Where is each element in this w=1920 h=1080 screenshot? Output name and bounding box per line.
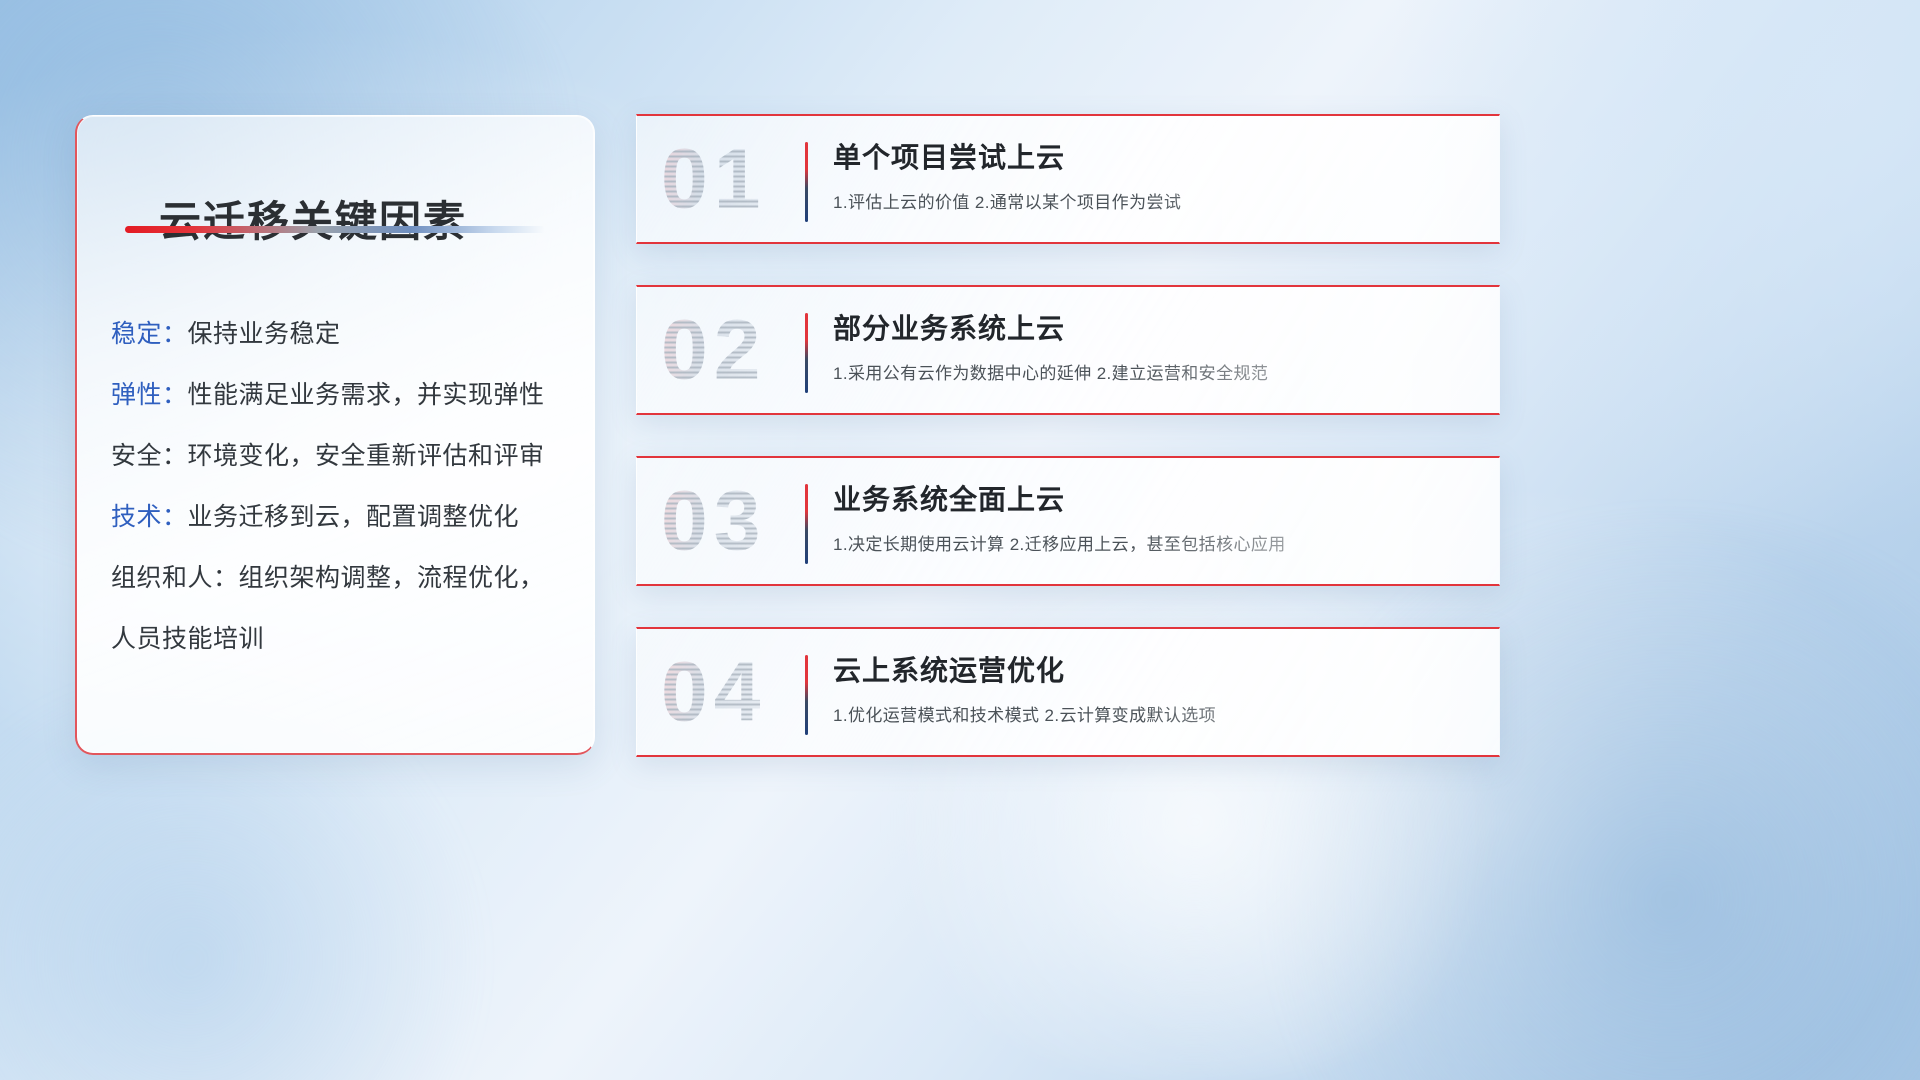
key-factor-item: 稳定：保持业务稳定	[111, 304, 581, 365]
key-factor-value: 组织架构调整，流程优化，	[239, 564, 545, 592]
card-description: 1.决定长期使用云计算 2.迁移应用上云，甚至包括核心应用	[833, 530, 1475, 555]
slide-canvas: 云迁移关键因素 稳定：保持业务稳定弹性：性能满足业务需求，并实现弹性安全：环境变…	[0, 0, 1920, 1080]
stage-card[interactable]: 02部分业务系统上云1.采用公有云作为数据中心的延伸 2.建立运营和安全规范	[636, 285, 1500, 415]
stage-card[interactable]: 04云上系统运营优化1.优化运营模式和技术模式 2.云计算变成默认选项	[636, 627, 1500, 757]
key-factor-value: 环境变化，安全重新评估和评审	[188, 442, 545, 470]
card-body: 业务系统全面上云1.决定长期使用云计算 2.迁移应用上云，甚至包括核心应用	[833, 478, 1475, 555]
key-factor-label: 弹性：	[111, 381, 188, 409]
stage-number: 02	[661, 302, 766, 399]
key-factor-item: 弹性：性能满足业务需求，并实现弹性	[111, 365, 581, 426]
panel-title: 云迁移关键因素	[159, 188, 467, 249]
key-factors-panel: 云迁移关键因素 稳定：保持业务稳定弹性：性能满足业务需求，并实现弹性安全：环境变…	[75, 115, 595, 755]
card-title: 部分业务系统上云	[833, 307, 1475, 347]
card-divider-accent	[805, 142, 808, 222]
card-divider-accent	[805, 313, 808, 393]
stage-number: 04	[661, 644, 766, 741]
key-factor-item: 安全：环境变化，安全重新评估和评审	[111, 426, 581, 487]
key-factor-item: 组织和人：组织架构调整，流程优化，	[111, 548, 581, 609]
stage-number: 01	[661, 131, 766, 228]
stage-card[interactable]: 01单个项目尝试上云1.评估上云的价值 2.通常以某个项目作为尝试	[636, 114, 1500, 244]
card-description: 1.采用公有云作为数据中心的延伸 2.建立运营和安全规范	[833, 359, 1475, 384]
key-factor-item: 人员技能培训	[111, 609, 581, 670]
card-divider-accent	[805, 655, 808, 735]
title-underline-accent	[125, 226, 545, 233]
key-factor-label: 稳定：	[111, 320, 188, 348]
card-title: 业务系统全面上云	[833, 478, 1475, 518]
key-factor-label: 组织和人：	[111, 564, 239, 592]
card-title: 单个项目尝试上云	[833, 136, 1475, 176]
stage-card[interactable]: 03业务系统全面上云1.决定长期使用云计算 2.迁移应用上云，甚至包括核心应用	[636, 456, 1500, 586]
stage-card-list: 01单个项目尝试上云1.评估上云的价值 2.通常以某个项目作为尝试02部分业务系…	[636, 114, 1500, 798]
key-factor-label: 安全：	[111, 442, 188, 470]
card-body: 部分业务系统上云1.采用公有云作为数据中心的延伸 2.建立运营和安全规范	[833, 307, 1475, 384]
card-description: 1.优化运营模式和技术模式 2.云计算变成默认选项	[833, 701, 1475, 726]
key-factor-value: 人员技能培训	[111, 625, 264, 653]
key-factor-value: 性能满足业务需求，并实现弹性	[188, 381, 545, 409]
key-factor-item: 技术：业务迁移到云，配置调整优化	[111, 487, 581, 548]
stage-number: 03	[661, 473, 766, 570]
card-divider-accent	[805, 484, 808, 564]
key-factors-list: 稳定：保持业务稳定弹性：性能满足业务需求，并实现弹性安全：环境变化，安全重新评估…	[111, 304, 581, 670]
key-factor-value: 保持业务稳定	[188, 320, 341, 348]
card-body: 单个项目尝试上云1.评估上云的价值 2.通常以某个项目作为尝试	[833, 136, 1475, 213]
key-factor-label: 技术：	[111, 503, 188, 531]
card-description: 1.评估上云的价值 2.通常以某个项目作为尝试	[833, 188, 1475, 213]
key-factor-value: 业务迁移到云，配置调整优化	[188, 503, 520, 531]
card-title: 云上系统运营优化	[833, 649, 1475, 689]
card-body: 云上系统运营优化1.优化运营模式和技术模式 2.云计算变成默认选项	[833, 649, 1475, 726]
